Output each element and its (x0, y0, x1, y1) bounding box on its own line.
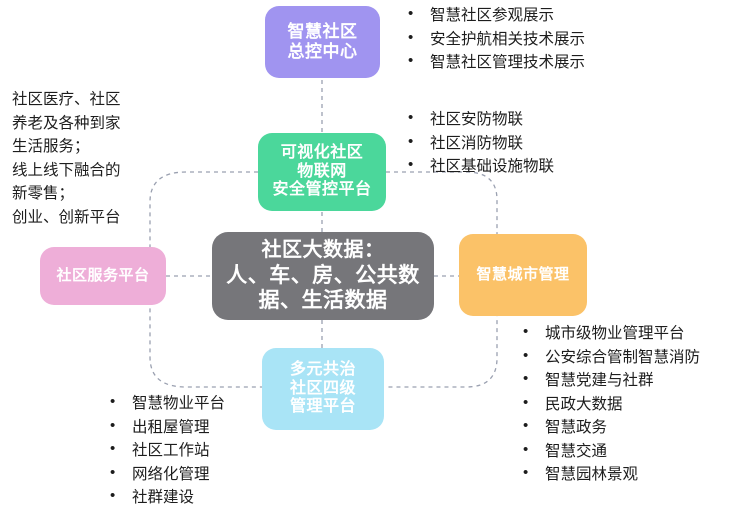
list-item: 社区安防物联 (404, 108, 554, 132)
node-community-service-platform[interactable]: 社区服务平台 (40, 247, 166, 305)
annotation-right-list: 城市级物业管理平台 公安综合管制智慧消防 智慧党建与社群 民政大数据 智慧政务 … (519, 322, 700, 487)
node-right-label: 智慧城市管理 (476, 266, 569, 284)
node-left-label: 社区服务平台 (56, 267, 149, 285)
list-item: 社区消防物联 (404, 132, 554, 156)
node-bottom-label: 多元共治 社区四级 管理平台 (290, 361, 356, 418)
list-item: 智慧物业平台 (106, 392, 225, 416)
list-item: 智慧园林景观 (519, 463, 700, 487)
list-item: 城市级物业管理平台 (519, 322, 700, 346)
node-iot-security-platform[interactable]: 可视化社区 物联网 安全管控平台 (258, 133, 386, 211)
node-center-line-3: 据、生活数据 (226, 288, 420, 314)
annotation-left-line-6: 创业、创新平台 (12, 206, 121, 230)
node-green-line-3: 安全管控平台 (272, 181, 371, 200)
node-center-label: 社区大数据： 人、车、房、公共数 据、生活数据 (226, 238, 420, 314)
node-left-line-1: 社区服务平台 (56, 267, 149, 285)
annotation-right: 城市级物业管理平台 公安综合管制智慧消防 智慧党建与社群 民政大数据 智慧政务 … (519, 322, 700, 487)
list-item: 社群建设 (106, 486, 225, 510)
node-four-level-management-platform[interactable]: 多元共治 社区四级 管理平台 (262, 348, 384, 430)
annotation-left: 社区医疗、社区 养老及各种到家 生活服务； 线上线下融合的 新零售； 创业、创新… (12, 88, 121, 229)
annotation-left-line-1: 社区医疗、社区 (12, 88, 121, 112)
node-center-line-1: 社区大数据： (226, 238, 420, 262)
node-right-line-1: 智慧城市管理 (476, 266, 569, 284)
list-item: 安全护航相关技术展示 (404, 28, 585, 52)
list-item: 智慧社区参观展示 (404, 4, 585, 28)
list-item: 社区工作站 (106, 439, 225, 463)
annotation-iot-right-list: 社区安防物联 社区消防物联 社区基础设施物联 (404, 108, 554, 179)
list-item: 智慧社区管理技术展示 (404, 51, 585, 75)
annotation-top-right: 智慧社区参观展示 安全护航相关技术展示 智慧社区管理技术展示 (404, 4, 585, 75)
annotation-top-right-list: 智慧社区参观展示 安全护航相关技术展示 智慧社区管理技术展示 (404, 4, 585, 75)
node-top-line-1: 智慧社区 (288, 22, 358, 42)
node-bottom-line-2: 社区四级 (290, 380, 356, 399)
node-green-label: 可视化社区 物联网 安全管控平台 (272, 144, 371, 201)
annotation-left-line-5: 新零售； (12, 182, 121, 206)
list-item: 网络化管理 (106, 463, 225, 487)
annotation-bottom-left-list: 智慧物业平台 出租屋管理 社区工作站 网络化管理 社群建设 (106, 392, 225, 510)
node-smart-community-control-center[interactable]: 智慧社区 总控中心 (265, 6, 380, 78)
node-top-line-2: 总控中心 (288, 42, 358, 62)
annotation-iot-right: 社区安防物联 社区消防物联 社区基础设施物联 (404, 108, 554, 179)
node-bottom-line-3: 管理平台 (290, 398, 356, 417)
node-top-label: 智慧社区 总控中心 (288, 22, 358, 62)
node-green-line-1: 可视化社区 (272, 144, 371, 163)
annotation-left-line-2: 养老及各种到家 (12, 112, 121, 136)
node-smart-city-management[interactable]: 智慧城市管理 (459, 234, 587, 316)
list-item: 出租屋管理 (106, 416, 225, 440)
annotation-left-line-3: 生活服务； (12, 135, 121, 159)
list-item: 民政大数据 (519, 393, 700, 417)
node-bottom-line-1: 多元共治 (290, 361, 356, 380)
list-item: 智慧政务 (519, 416, 700, 440)
annotation-left-line-4: 线上线下融合的 (12, 159, 121, 183)
annotation-bottom-left: 智慧物业平台 出租屋管理 社区工作站 网络化管理 社群建设 (106, 392, 225, 510)
diagram-canvas: 社区大数据： 人、车、房、公共数 据、生活数据 智慧社区 总控中心 可视化社区 … (0, 0, 740, 512)
node-community-big-data[interactable]: 社区大数据： 人、车、房、公共数 据、生活数据 (212, 232, 434, 320)
list-item: 智慧党建与社群 (519, 369, 700, 393)
list-item: 智慧交通 (519, 440, 700, 464)
list-item: 社区基础设施物联 (404, 155, 554, 179)
list-item: 公安综合管制智慧消防 (519, 346, 700, 370)
node-green-line-2: 物联网 (272, 163, 371, 182)
node-center-line-2: 人、车、房、公共数 (226, 263, 420, 289)
